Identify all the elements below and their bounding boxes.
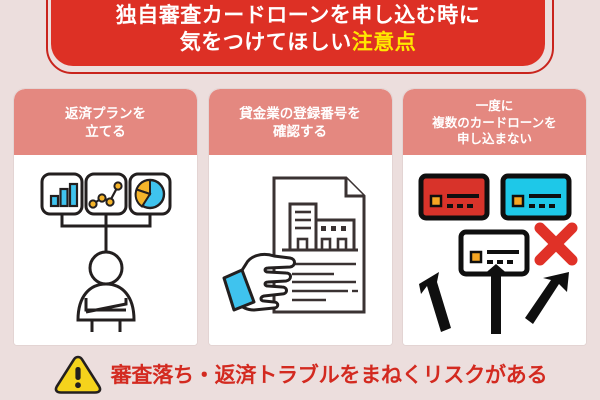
credit-card-cyan — [503, 176, 569, 218]
card-3-illustration — [403, 155, 586, 345]
card-1-illustration — [14, 155, 197, 345]
card-1-title-line-2: 立てる — [85, 123, 126, 141]
arrows-up — [419, 264, 569, 334]
card-3-title-line-3: 申し込まない — [457, 131, 532, 148]
card-1-title-line-1: 返済プランを — [65, 105, 146, 123]
card-2-title-line-2: 確認する — [273, 123, 327, 141]
header-banner: 独自審査カードローンを申し込む時に 気をつけてほしい注意点 — [46, 0, 554, 74]
banner-title-line-2: 気をつけてほしい注意点 — [180, 29, 417, 56]
card-3-title-line-1: 一度に — [476, 98, 514, 115]
pie-chart-glyph — [135, 180, 163, 208]
card-avoid-multiple-applications: 一度に 複数のカードローンを 申し込まない — [402, 88, 587, 346]
banner-title-line-1: 独自審査カードローンを申し込む時に — [116, 2, 480, 29]
cards-row: 返済プランを 立てる — [13, 88, 587, 346]
card-1-header: 返済プランを 立てる — [14, 89, 197, 155]
card-lender-registration-number: 貸金業の登録番号を 確認する — [208, 88, 393, 346]
card-3-header: 一度に 複数のカードローンを 申し込まない — [403, 89, 586, 155]
card-3-title-line-2: 複数のカードローンを — [432, 115, 556, 132]
hand-holding-document-icon — [216, 160, 384, 340]
warning-triangle-icon — [53, 353, 103, 395]
footer-warning: 審査落ち・返済トラブルをまねくリスクがある — [0, 348, 600, 400]
red-x-icon — [540, 228, 572, 260]
card-2-illustration — [209, 155, 392, 345]
footer-warning-text: 審査落ち・返済トラブルをまねくリスクがある — [111, 359, 548, 389]
card-2-title-line-1: 貸金業の登録番号を — [239, 105, 361, 123]
card-repayment-plan: 返済プランを 立てる — [13, 88, 198, 346]
multiple-credit-cards-rejected-icon — [409, 160, 581, 340]
banner-title-plain: 気をつけてほしい — [180, 31, 352, 54]
banner-title-highlight: 注意点 — [352, 31, 417, 54]
bar-chart-glyph — [51, 184, 77, 206]
charts-and-person-icon — [22, 160, 190, 340]
credit-card-red — [421, 176, 487, 218]
line-chart-glyph — [89, 182, 121, 207]
card-2-header: 貸金業の登録番号を 確認する — [209, 89, 392, 155]
banner-body: 独自審査カードローンを申し込む時に 気をつけてほしい注意点 — [51, 0, 545, 66]
